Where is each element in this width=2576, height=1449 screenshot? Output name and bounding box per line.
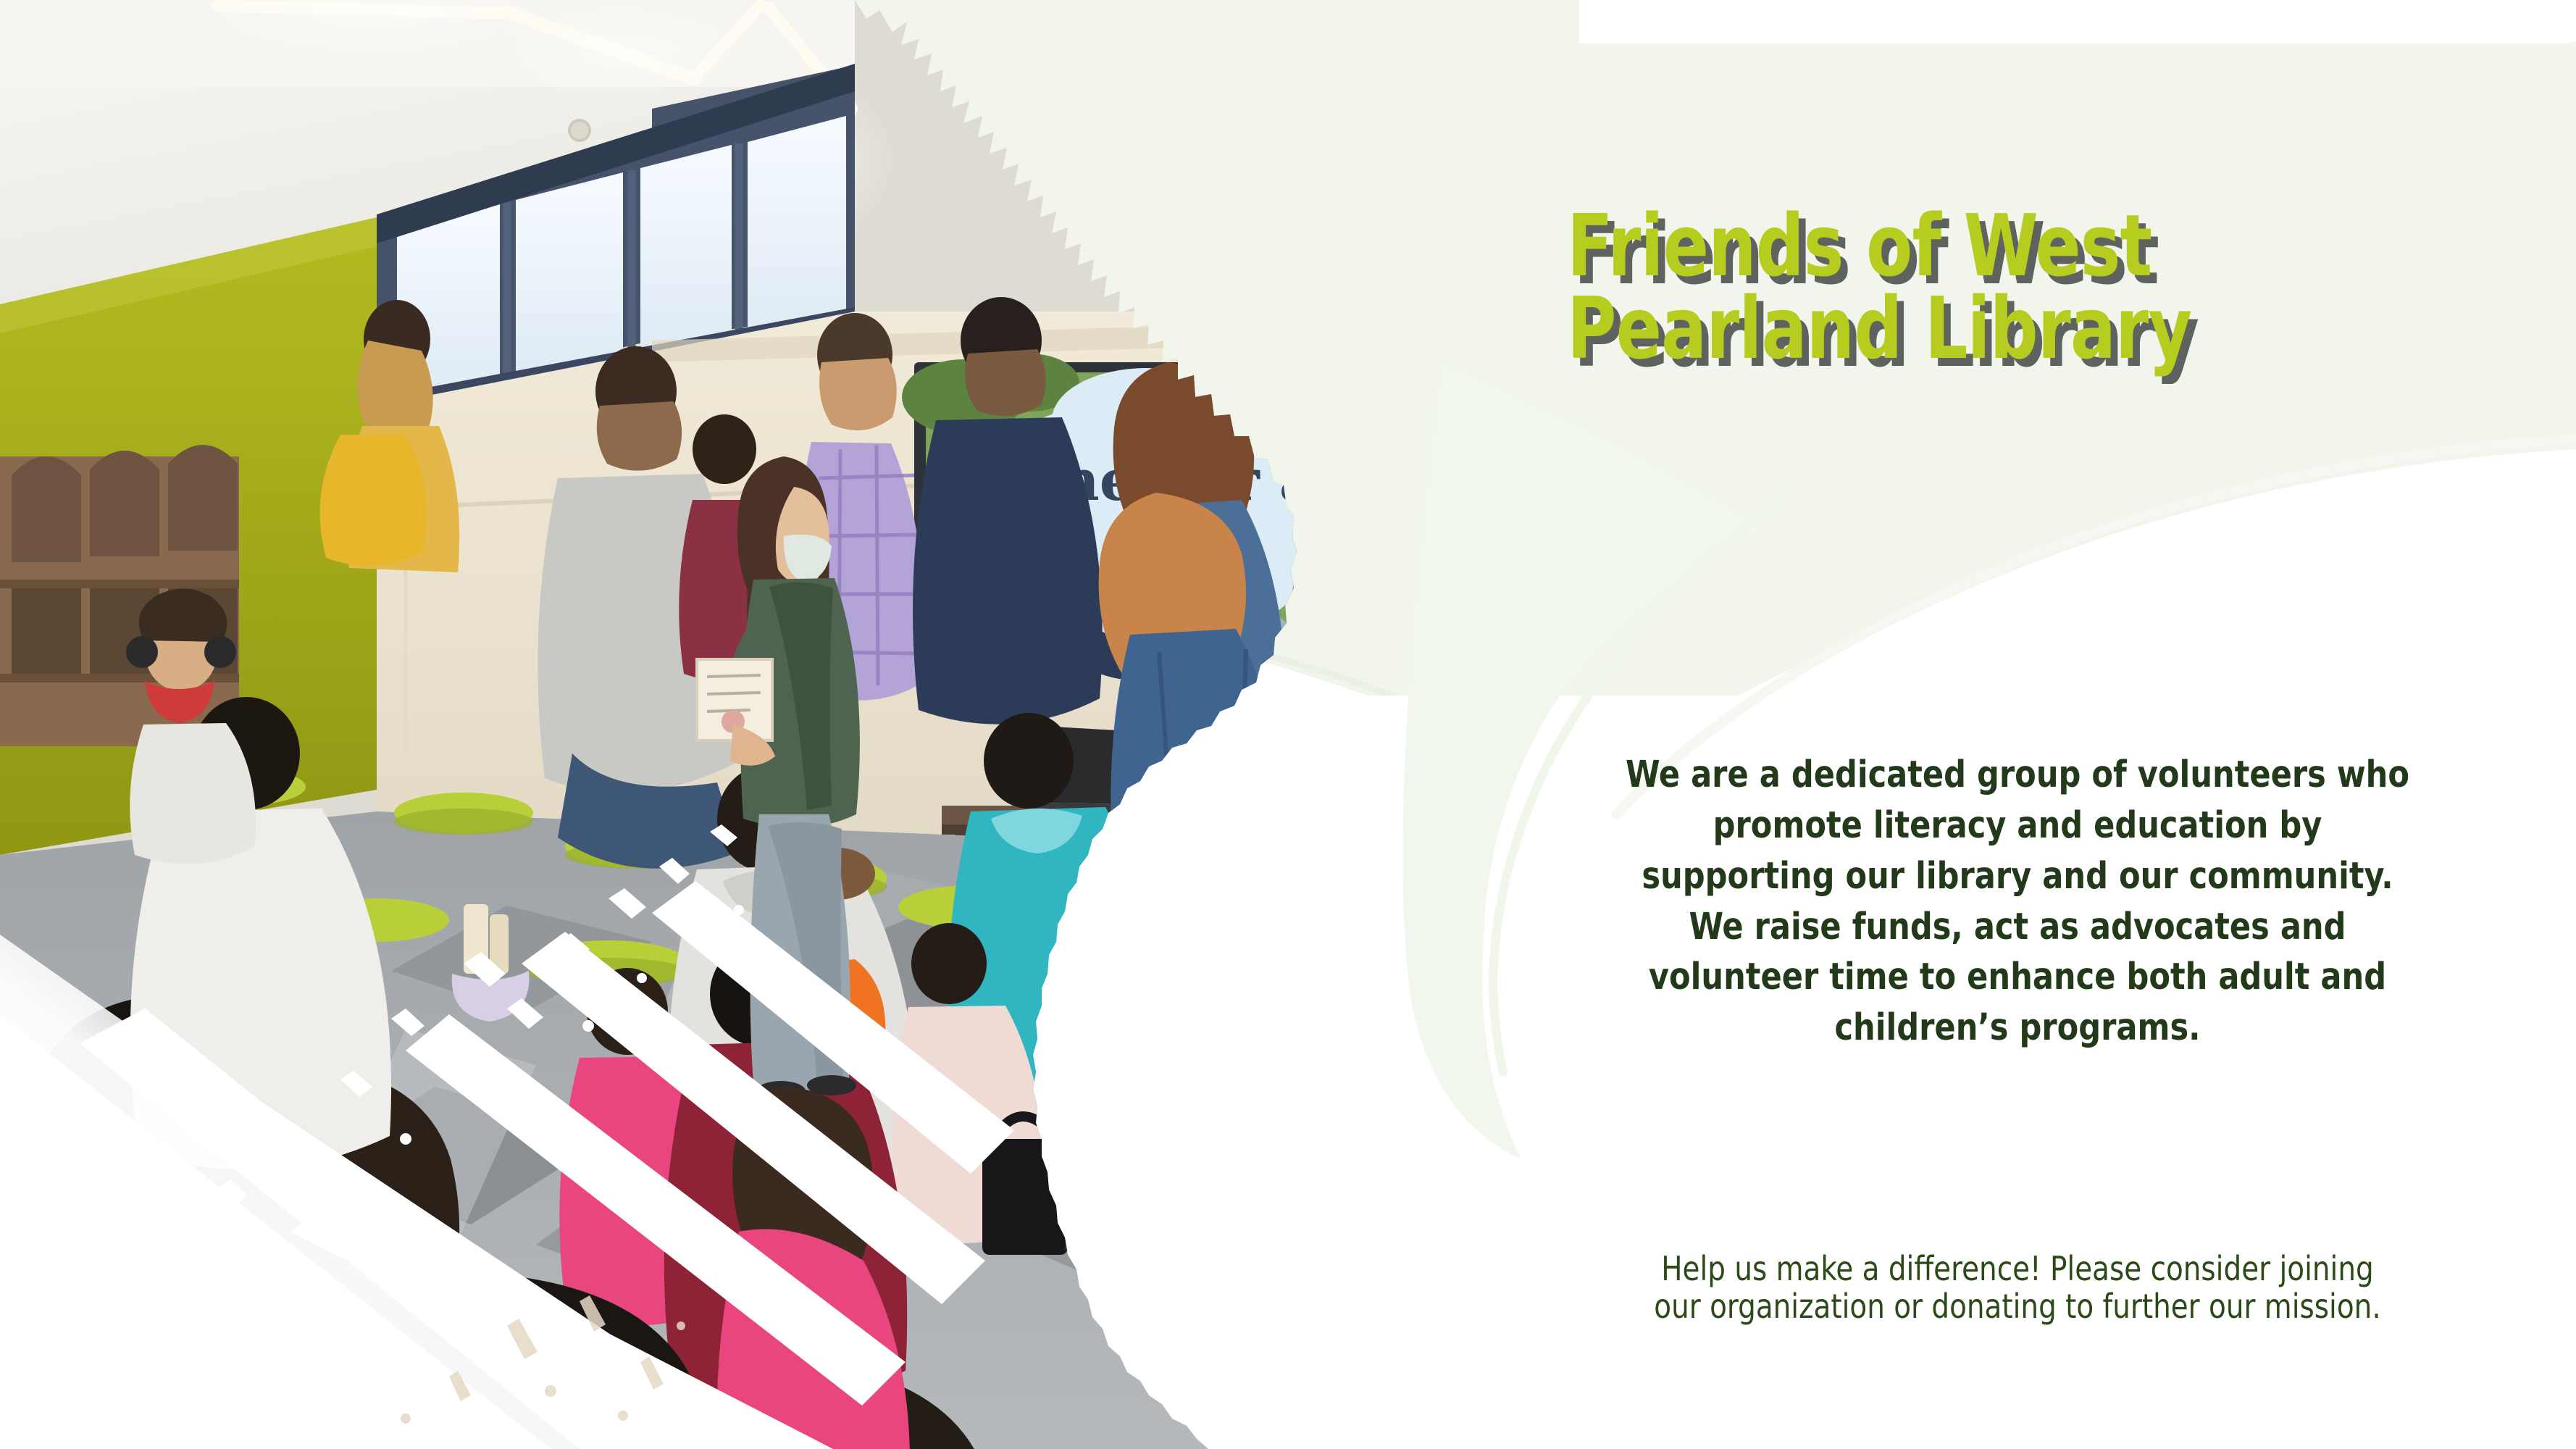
call-to-action-text: Help us make a difference! Please consid… xyxy=(1578,1250,2457,1326)
page-title: Friends of West Pearland Library xyxy=(1567,204,2409,370)
slide-canvas: Time For a Book! xyxy=(0,0,2576,1449)
library-storytime-photo: Time For a Book! xyxy=(0,0,1449,1449)
mission-statement: We are a dedicated group of volunteers w… xyxy=(1578,750,2457,1053)
